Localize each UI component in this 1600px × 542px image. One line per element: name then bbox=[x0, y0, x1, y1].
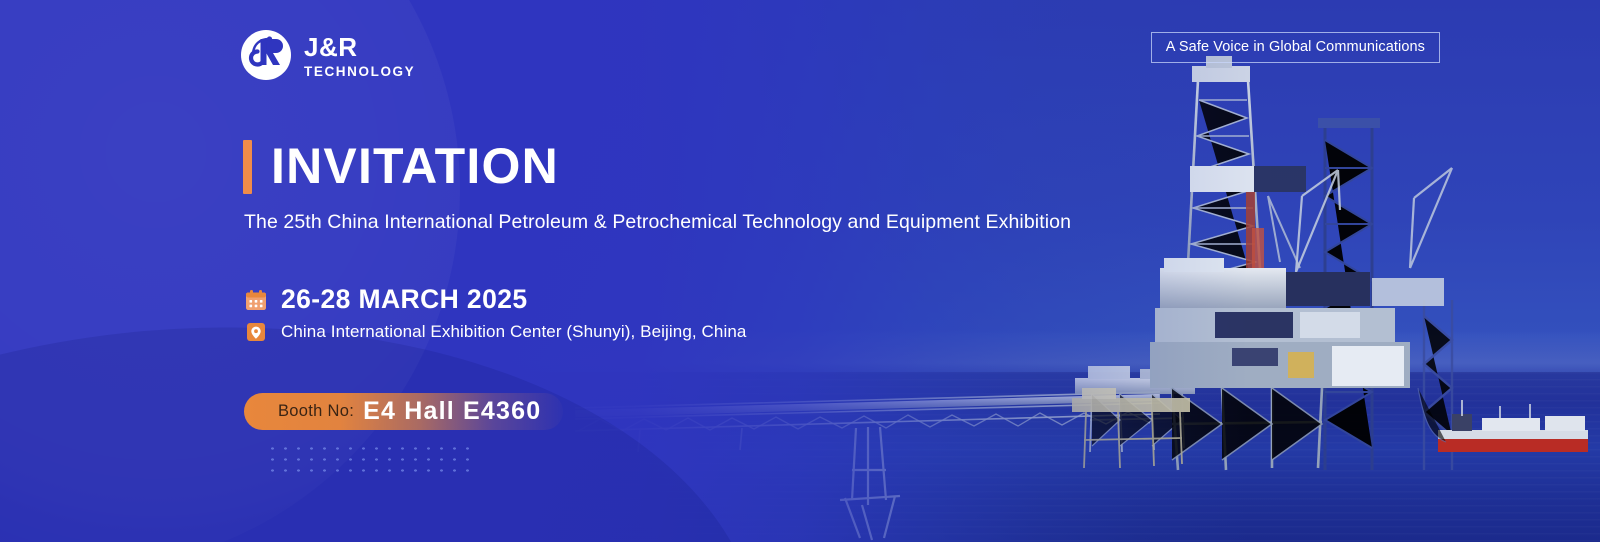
dot-grid-decoration bbox=[266, 443, 474, 477]
jr-monogram-headset-icon bbox=[240, 29, 292, 81]
brand-name-primary: J&R bbox=[304, 34, 415, 60]
event-date-row: 26-28 MARCH 2025 bbox=[245, 284, 527, 315]
accent-bar bbox=[243, 140, 252, 194]
page-title: INVITATION bbox=[271, 140, 559, 194]
invitation-banner: J&R TECHNOLOGY A Safe Voice in Global Co… bbox=[0, 0, 1600, 542]
banner-content: J&R TECHNOLOGY A Safe Voice in Global Co… bbox=[0, 0, 1600, 542]
booth-label: Booth No: bbox=[278, 402, 354, 421]
page-subtitle: The 25th China International Petroleum &… bbox=[244, 211, 1071, 234]
booth-number: E4 Hall E4360 bbox=[363, 397, 541, 426]
brand-name-secondary: TECHNOLOGY bbox=[304, 65, 415, 79]
booth-badge: Booth No: E4 Hall E4360 bbox=[244, 393, 563, 430]
event-location-row: China International Exhibition Center (S… bbox=[245, 321, 746, 343]
headline-row: INVITATION bbox=[243, 140, 559, 194]
event-location: China International Exhibition Center (S… bbox=[281, 322, 746, 342]
map-pin-icon bbox=[245, 321, 267, 343]
calendar-icon bbox=[245, 289, 267, 311]
event-date: 26-28 MARCH 2025 bbox=[281, 284, 527, 315]
brand-logo[interactable]: J&R TECHNOLOGY bbox=[240, 29, 415, 81]
tagline-box: A Safe Voice in Global Communications bbox=[1151, 32, 1440, 63]
